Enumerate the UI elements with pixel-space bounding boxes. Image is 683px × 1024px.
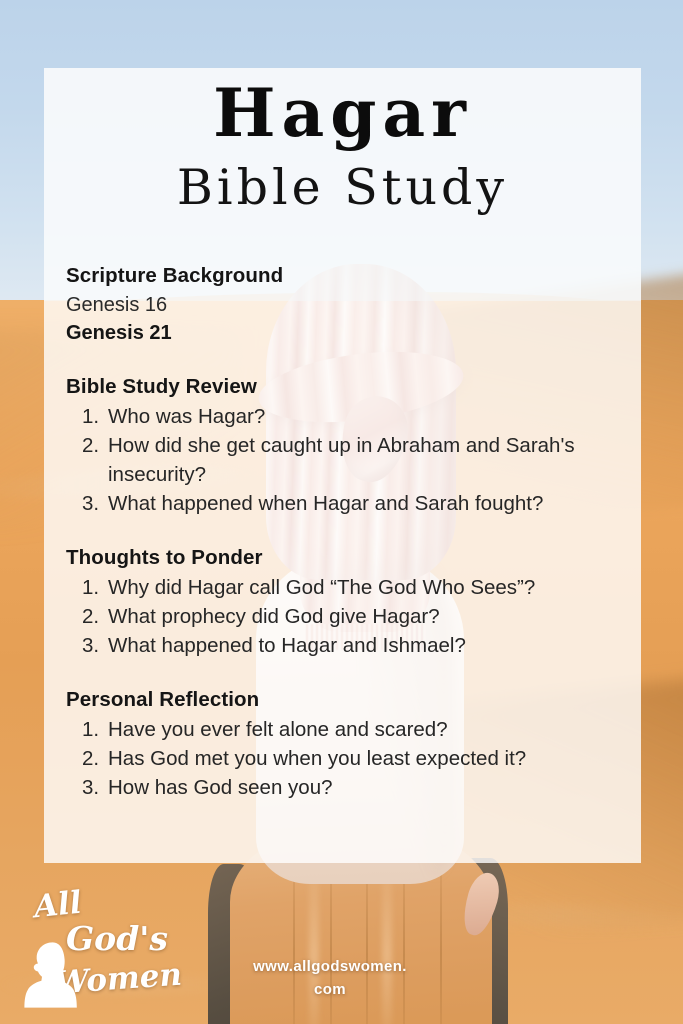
page-subtitle: Bible Study: [44, 160, 641, 216]
section-scripture-background: Scripture Background Genesis 16 Genesis …: [66, 262, 626, 347]
section-personal-reflection: Personal Reflection Have you ever felt a…: [66, 686, 626, 802]
list-item: Have you ever felt alone and scared?: [66, 715, 626, 744]
list-item: What happened to Hagar and Ishmael?: [66, 631, 626, 660]
poster-canvas: Hagar Bible Study Scripture Background G…: [0, 0, 683, 1024]
woman-silhouette-icon: [22, 940, 80, 1010]
section-heading: Thoughts to Ponder: [66, 544, 626, 571]
logo-line-gods: God's: [66, 922, 168, 955]
list-item: How has God seen you?: [66, 773, 626, 802]
list-item: Who was Hagar?: [66, 402, 626, 431]
section-thoughts-to-ponder: Thoughts to Ponder Why did Hagar call Go…: [66, 544, 626, 660]
section-bible-study-review: Bible Study Review Who was Hagar? How di…: [66, 373, 626, 518]
list-item: What prophecy did God give Hagar?: [66, 602, 626, 631]
list-item: Why did Hagar call God “The God Who Sees…: [66, 573, 626, 602]
question-list: Have you ever felt alone and scared? Has…: [66, 715, 626, 802]
website-url-line1: www.allgodswomen.: [150, 955, 510, 978]
scripture-reference: Genesis 21: [66, 319, 626, 347]
list-item: Has God met you when you least expected …: [66, 744, 626, 773]
question-list: Who was Hagar? How did she get caught up…: [66, 402, 626, 518]
list-item: What happened when Hagar and Sarah fough…: [66, 489, 626, 518]
section-heading: Scripture Background: [66, 262, 626, 289]
question-list: Why did Hagar call God “The God Who Sees…: [66, 573, 626, 660]
list-item: How did she get caught up in Abraham and…: [66, 431, 626, 489]
title-block: Hagar Bible Study: [44, 78, 641, 216]
website-url-line2: com: [150, 978, 510, 1001]
page-title: Hagar: [44, 78, 641, 148]
section-heading: Personal Reflection: [66, 686, 626, 713]
website-url[interactable]: www.allgodswomen. com: [150, 955, 510, 1001]
scripture-reference: Genesis 16: [66, 291, 626, 319]
section-heading: Bible Study Review: [66, 373, 626, 400]
study-content: Scripture Background Genesis 16 Genesis …: [66, 262, 626, 812]
